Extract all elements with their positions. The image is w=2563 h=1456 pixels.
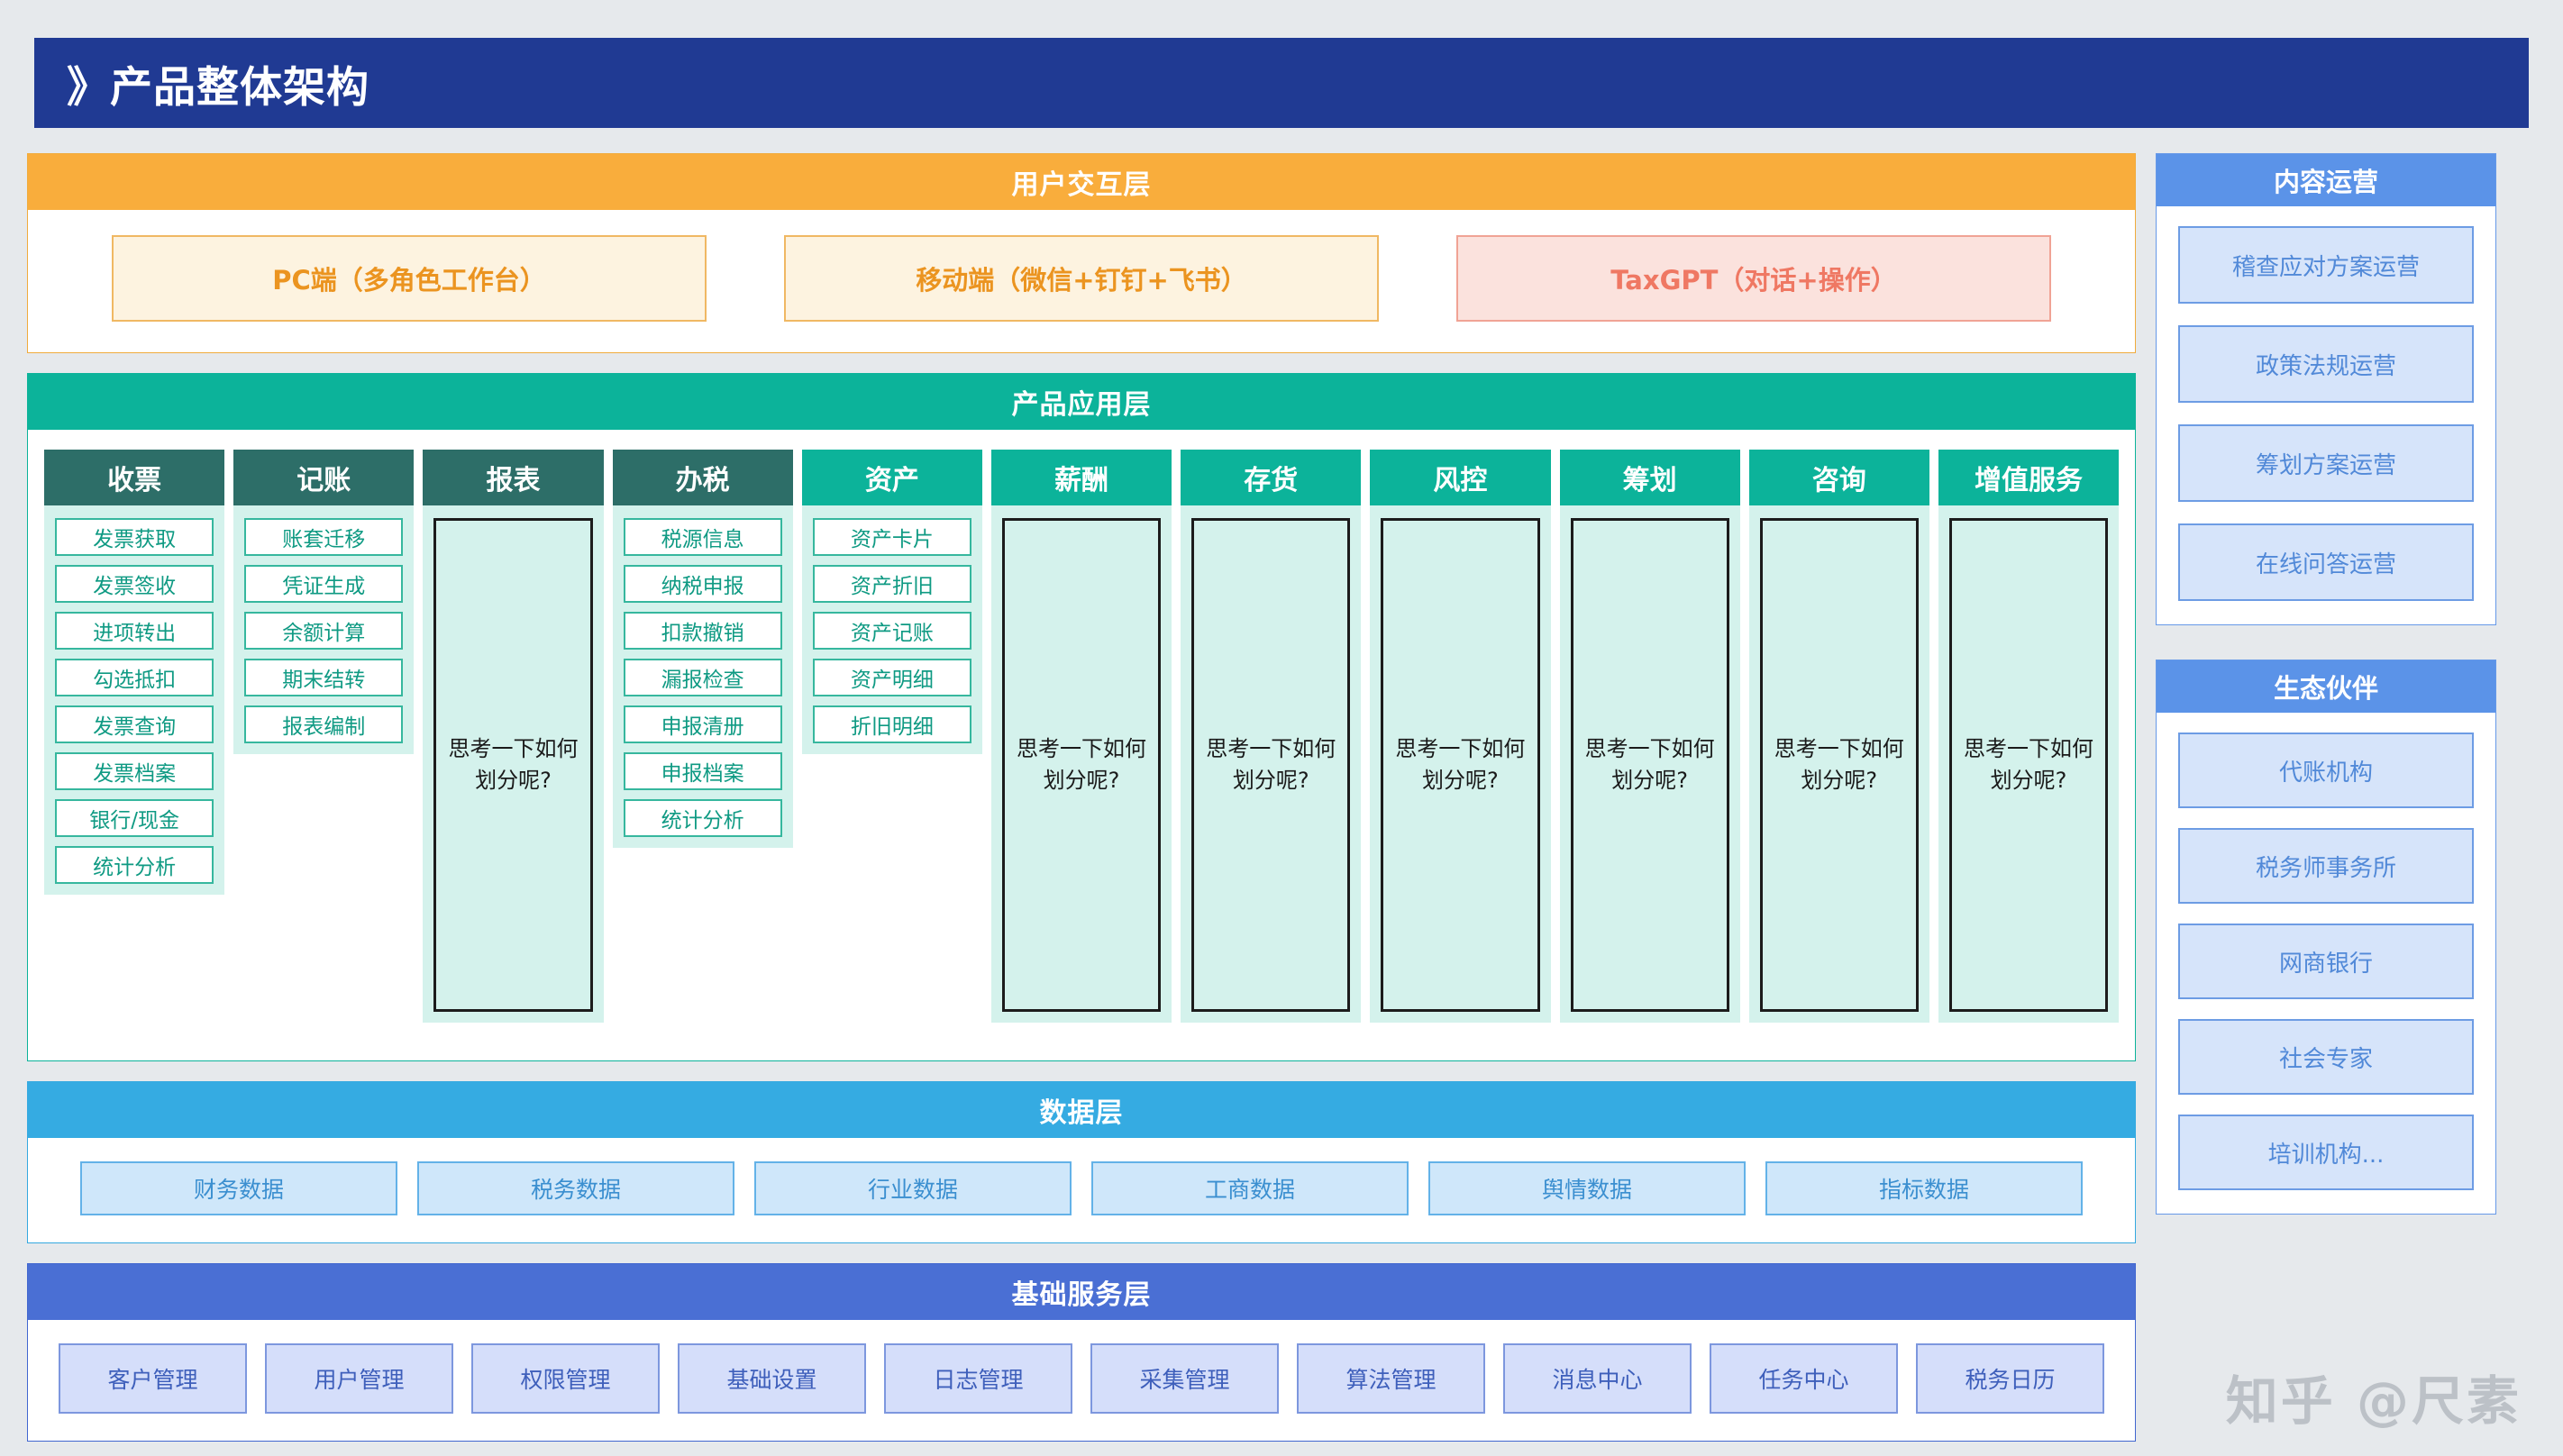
app-column-5: 薪酬思考一下如何划分呢? (991, 450, 1172, 1023)
app-item-chip[interactable]: 发票签收 (55, 565, 214, 603)
app-column-7: 风控思考一下如何划分呢? (1370, 450, 1550, 1023)
app-column-header-2[interactable]: 报表 (423, 450, 603, 505)
app-item-chip[interactable]: 报表编制 (244, 705, 403, 743)
app-column-10: 增值服务思考一下如何划分呢? (1938, 450, 2119, 1023)
app-item-chip[interactable]: 发票获取 (55, 518, 214, 556)
app-column-placeholder-2: 思考一下如何划分呢? (433, 518, 592, 1012)
app-column-4: 资产资产卡片资产折旧资产记账资产明细折旧明细 (802, 450, 982, 754)
base-service-chip[interactable]: 用户管理 (265, 1343, 453, 1414)
ecosystem-partners-title: 生态伙伴 (2157, 660, 2495, 713)
app-column-header-7[interactable]: 风控 (1370, 450, 1550, 505)
app-column-items-0: 发票获取发票签收进项转出勾选抵扣发票查询发票档案银行/现金统计分析 (44, 518, 224, 884)
app-column-placeholder-10: 思考一下如何划分呢? (1949, 518, 2108, 1012)
base-service-chip[interactable]: 任务中心 (1710, 1343, 1898, 1414)
app-column-1: 记账账套迁移凭证生成余额计算期末结转报表编制 (233, 450, 414, 754)
content-operations-chip[interactable]: 在线问答运营 (2178, 523, 2474, 601)
app-item-chip[interactable]: 申报清册 (624, 705, 782, 743)
data-layer-chip[interactable]: 税务数据 (417, 1161, 734, 1215)
app-item-chip[interactable]: 申报档案 (624, 752, 782, 790)
app-column-placeholder-8: 思考一下如何划分呢? (1571, 518, 1729, 1012)
content-operations-panel: 内容运营 稽查应对方案运营政策法规运营筹划方案运营在线问答运营 (2156, 153, 2496, 625)
page-title: 》产品整体架构 (67, 52, 369, 114)
app-column-header-5[interactable]: 薪酬 (991, 450, 1172, 505)
ecosystem-partner-chip[interactable]: 培训机构... (2178, 1115, 2474, 1190)
user-interaction-layer-title: 用户交互层 (28, 154, 2135, 210)
ecosystem-partner-chip[interactable]: 税务师事务所 (2178, 828, 2474, 904)
base-service-chip[interactable]: 消息中心 (1503, 1343, 1692, 1414)
data-layer-items: 财务数据税务数据行业数据工商数据舆情数据指标数据 (28, 1138, 2135, 1242)
app-item-chip[interactable]: 折旧明细 (813, 705, 971, 743)
app-item-chip[interactable]: 银行/现金 (55, 799, 214, 837)
base-service-chip[interactable]: 采集管理 (1090, 1343, 1279, 1414)
ecosystem-partners-items: 代账机构税务师事务所网商银行社会专家培训机构... (2157, 713, 2495, 1214)
app-item-chip[interactable]: 税源信息 (624, 518, 782, 556)
app-column-items-4: 资产卡片资产折旧资产记账资产明细折旧明细 (802, 518, 982, 743)
user-interaction-layer-items: PC端（多角色工作台）移动端（微信+钉钉+飞书）TaxGPT（对话+操作） (28, 210, 2135, 352)
base-service-layer-items: 客户管理用户管理权限管理基础设置日志管理采集管理算法管理消息中心任务中心税务日历 (28, 1320, 2135, 1441)
app-column-6: 存货思考一下如何划分呢? (1181, 450, 1361, 1023)
app-column-0: 收票发票获取发票签收进项转出勾选抵扣发票查询发票档案银行/现金统计分析 (44, 450, 224, 895)
product-application-layer: 产品应用层 收票发票获取发票签收进项转出勾选抵扣发票查询发票档案银行/现金统计分… (27, 373, 2136, 1061)
app-item-chip[interactable]: 统计分析 (624, 799, 782, 837)
app-column-2: 报表思考一下如何划分呢? (423, 450, 603, 1023)
app-item-chip[interactable]: 资产明细 (813, 659, 971, 696)
app-item-chip[interactable]: 账套迁移 (244, 518, 403, 556)
interaction-chip-1[interactable]: 移动端（微信+钉钉+飞书） (784, 235, 1379, 322)
content-operations-chip[interactable]: 稽查应对方案运营 (2178, 226, 2474, 304)
content-operations-items: 稽查应对方案运营政策法规运营筹划方案运营在线问答运营 (2157, 206, 2495, 624)
app-column-header-4[interactable]: 资产 (802, 450, 982, 505)
ecosystem-partners-panel: 生态伙伴 代账机构税务师事务所网商银行社会专家培训机构... (2156, 660, 2496, 1215)
app-item-chip[interactable]: 余额计算 (244, 612, 403, 650)
app-column-placeholder-5: 思考一下如何划分呢? (1002, 518, 1161, 1012)
app-item-chip[interactable]: 勾选抵扣 (55, 659, 214, 696)
app-item-chip[interactable]: 统计分析 (55, 846, 214, 884)
base-service-chip[interactable]: 算法管理 (1297, 1343, 1485, 1414)
watermark: 知乎 @尺素 (2226, 1359, 2522, 1434)
app-column-header-1[interactable]: 记账 (233, 450, 414, 505)
app-item-chip[interactable]: 期末结转 (244, 659, 403, 696)
app-item-chip[interactable]: 发票档案 (55, 752, 214, 790)
app-column-header-10[interactable]: 增值服务 (1938, 450, 2119, 505)
product-architecture-diagram: 》产品整体架构 用户交互层 PC端（多角色工作台）移动端（微信+钉钉+飞书）Ta… (0, 0, 2563, 1456)
base-service-chip[interactable]: 权限管理 (471, 1343, 660, 1414)
app-column-items-3: 税源信息纳税申报扣款撤销漏报检查申报清册申报档案统计分析 (613, 518, 793, 837)
product-application-layer-title: 产品应用层 (28, 374, 2135, 430)
ecosystem-partner-chip[interactable]: 网商银行 (2178, 924, 2474, 999)
app-item-chip[interactable]: 资产卡片 (813, 518, 971, 556)
content-operations-title: 内容运营 (2157, 154, 2495, 206)
data-layer-title: 数据层 (28, 1082, 2135, 1138)
right-sidebar: 内容运营 稽查应对方案运营政策法规运营筹划方案运营在线问答运营 生态伙伴 代账机… (2156, 153, 2496, 1215)
app-column-placeholder-7: 思考一下如何划分呢? (1381, 518, 1539, 1012)
app-column-header-3[interactable]: 办税 (613, 450, 793, 505)
base-service-chip[interactable]: 客户管理 (59, 1343, 247, 1414)
page-title-bar: 》产品整体架构 (34, 38, 2529, 128)
app-column-8: 筹划思考一下如何划分呢? (1560, 450, 1740, 1023)
app-item-chip[interactable]: 进项转出 (55, 612, 214, 650)
app-item-chip[interactable]: 凭证生成 (244, 565, 403, 603)
app-item-chip[interactable]: 漏报检查 (624, 659, 782, 696)
app-item-chip[interactable]: 资产记账 (813, 612, 971, 650)
app-column-header-6[interactable]: 存货 (1181, 450, 1361, 505)
data-layer-chip[interactable]: 指标数据 (1765, 1161, 2083, 1215)
content-operations-chip[interactable]: 筹划方案运营 (2178, 424, 2474, 502)
ecosystem-partner-chip[interactable]: 社会专家 (2178, 1019, 2474, 1095)
base-service-chip[interactable]: 基础设置 (678, 1343, 866, 1414)
app-item-chip[interactable]: 资产折旧 (813, 565, 971, 603)
app-column-placeholder-6: 思考一下如何划分呢? (1191, 518, 1350, 1012)
interaction-chip-2[interactable]: TaxGPT（对话+操作） (1456, 235, 2051, 322)
base-service-layer: 基础服务层 客户管理用户管理权限管理基础设置日志管理采集管理算法管理消息中心任务… (27, 1263, 2136, 1442)
base-service-chip[interactable]: 日志管理 (884, 1343, 1072, 1414)
content-operations-chip[interactable]: 政策法规运营 (2178, 325, 2474, 403)
app-column-header-9[interactable]: 咨询 (1749, 450, 1929, 505)
data-layer: 数据层 财务数据税务数据行业数据工商数据舆情数据指标数据 (27, 1081, 2136, 1243)
data-layer-chip[interactable]: 财务数据 (80, 1161, 397, 1215)
app-column-9: 咨询思考一下如何划分呢? (1749, 450, 1929, 1023)
product-application-columns: 收票发票获取发票签收进项转出勾选抵扣发票查询发票档案银行/现金统计分析记账账套迁… (28, 430, 2135, 1060)
app-column-header-0[interactable]: 收票 (44, 450, 224, 505)
ecosystem-partner-chip[interactable]: 代账机构 (2178, 733, 2474, 808)
data-layer-chip[interactable]: 工商数据 (1091, 1161, 1409, 1215)
app-column-placeholder-9: 思考一下如何划分呢? (1760, 518, 1919, 1012)
app-item-chip[interactable]: 扣款撤销 (624, 612, 782, 650)
data-layer-chip[interactable]: 行业数据 (754, 1161, 1072, 1215)
app-column-header-8[interactable]: 筹划 (1560, 450, 1740, 505)
main-column: 用户交互层 PC端（多角色工作台）移动端（微信+钉钉+飞书）TaxGPT（对话+… (27, 153, 2136, 1442)
data-layer-chip[interactable]: 舆情数据 (1428, 1161, 1746, 1215)
base-service-layer-title: 基础服务层 (28, 1264, 2135, 1320)
base-service-chip[interactable]: 税务日历 (1916, 1343, 2104, 1414)
app-item-chip[interactable]: 纳税申报 (624, 565, 782, 603)
app-column-items-1: 账套迁移凭证生成余额计算期末结转报表编制 (233, 518, 414, 743)
user-interaction-layer: 用户交互层 PC端（多角色工作台）移动端（微信+钉钉+飞书）TaxGPT（对话+… (27, 153, 2136, 353)
app-column-3: 办税税源信息纳税申报扣款撤销漏报检查申报清册申报档案统计分析 (613, 450, 793, 848)
app-item-chip[interactable]: 发票查询 (55, 705, 214, 743)
interaction-chip-0[interactable]: PC端（多角色工作台） (112, 235, 707, 322)
